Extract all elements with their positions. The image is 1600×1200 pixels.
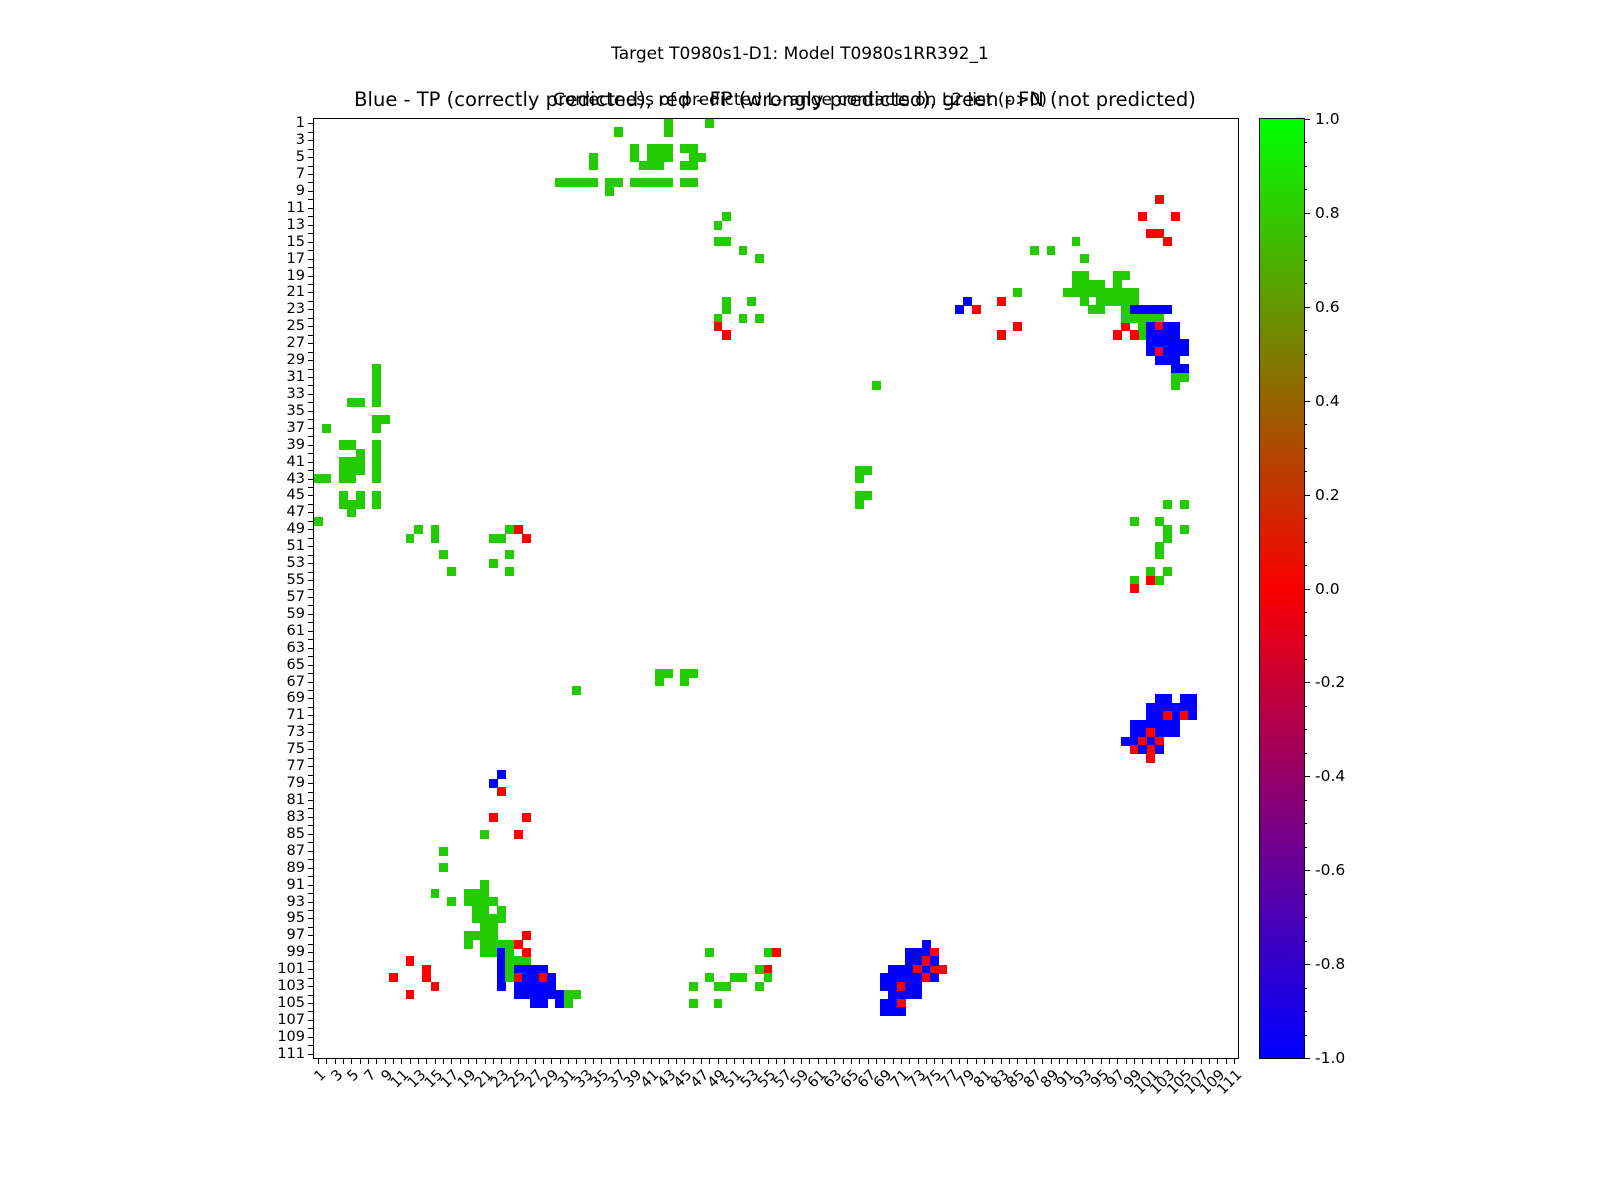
y-tick-mark xyxy=(308,775,314,776)
colorbar-minor-tick xyxy=(1304,941,1307,942)
colorbar-minor-tick xyxy=(1304,964,1307,965)
x-tick-mark xyxy=(568,1058,569,1064)
fn-cell xyxy=(1013,288,1022,297)
x-tick-mark xyxy=(1026,1058,1027,1064)
colorbar-minor-tick xyxy=(1304,354,1307,355)
y-tick-mark xyxy=(308,1054,314,1055)
x-tick-mark xyxy=(1001,1058,1002,1064)
fp-cell xyxy=(522,534,531,543)
fp-cell xyxy=(722,330,731,339)
tp-cell xyxy=(1171,728,1180,737)
x-tick-mark xyxy=(1226,1058,1227,1064)
fp-cell xyxy=(389,973,398,982)
y-tick-mark xyxy=(308,250,314,251)
x-tick-mark xyxy=(360,1058,361,1064)
fp-cell xyxy=(522,931,531,940)
tp-cell xyxy=(1180,347,1189,356)
y-tick-mark xyxy=(308,927,314,928)
colorbar-tick-label: 1.0 xyxy=(1315,110,1340,128)
fn-cell xyxy=(347,457,356,466)
y-tick-mark xyxy=(308,580,314,581)
colorbar-minor-tick xyxy=(1304,142,1307,143)
x-tick-mark xyxy=(693,1058,694,1064)
x-tick-mark xyxy=(318,1058,319,1064)
fn-cell xyxy=(664,119,673,128)
y-tick-label: 75 xyxy=(287,741,305,757)
fn-cell xyxy=(1030,246,1039,255)
colorbar-minor-tick xyxy=(1304,189,1307,190)
colorbar-minor-tick xyxy=(1304,729,1307,730)
y-tick-mark xyxy=(308,876,314,877)
tp-cell xyxy=(497,982,506,991)
x-tick-mark xyxy=(618,1058,619,1064)
x-tick-mark xyxy=(959,1058,960,1064)
x-tick-mark xyxy=(818,1058,819,1064)
y-tick-mark xyxy=(308,851,314,852)
fn-cell xyxy=(347,440,356,449)
y-tick-label: 81 xyxy=(287,792,305,808)
y-tick-mark xyxy=(308,639,314,640)
fn-cell xyxy=(630,178,639,187)
y-tick-mark xyxy=(308,783,314,784)
y-tick-mark xyxy=(308,233,314,234)
fn-cell xyxy=(714,221,723,230)
x-tick-mark xyxy=(651,1058,652,1064)
fn-cell xyxy=(764,973,773,982)
y-tick-mark xyxy=(308,885,314,886)
x-tick-mark xyxy=(560,1058,561,1064)
y-tick-label: 47 xyxy=(287,504,305,520)
x-tick-mark xyxy=(976,1058,977,1064)
colorbar-minor-tick xyxy=(1304,213,1307,214)
colorbar-minor-tick xyxy=(1304,1035,1307,1036)
y-tick-mark xyxy=(308,182,314,183)
y-tick-mark xyxy=(308,166,314,167)
x-tick-mark xyxy=(768,1058,769,1064)
y-tick-mark xyxy=(308,842,314,843)
y-tick-mark xyxy=(308,453,314,454)
x-tick-mark xyxy=(967,1058,968,1064)
x-tick-mark xyxy=(543,1058,544,1064)
colorbar-minor-tick xyxy=(1304,870,1307,871)
colorbar-minor-tick xyxy=(1304,1011,1307,1012)
x-tick-mark xyxy=(335,1058,336,1064)
fn-cell xyxy=(322,474,331,483)
tp-cell xyxy=(930,973,939,982)
fn-cell xyxy=(647,153,656,162)
y-tick-mark xyxy=(308,622,314,623)
y-tick-mark xyxy=(308,698,314,699)
x-tick-mark xyxy=(893,1058,894,1064)
y-tick-mark xyxy=(308,445,314,446)
colorbar-minor-tick xyxy=(1304,377,1307,378)
y-tick-mark xyxy=(308,326,314,327)
y-tick-label: 39 xyxy=(287,437,305,453)
fn-cell xyxy=(414,525,423,534)
y-tick-label: 35 xyxy=(287,403,305,419)
fn-cell xyxy=(314,474,323,483)
fn-cell xyxy=(755,254,764,263)
fn-cell xyxy=(1047,246,1056,255)
y-tick-mark xyxy=(308,208,314,209)
colorbar-minor-tick xyxy=(1304,847,1307,848)
y-tick-mark xyxy=(308,825,314,826)
fn-cell xyxy=(689,669,698,678)
fn-cell xyxy=(863,466,872,475)
colorbar-minor-tick xyxy=(1304,988,1307,989)
y-tick-label: 55 xyxy=(287,572,305,588)
fn-cell xyxy=(705,973,714,982)
fn-cell xyxy=(689,999,698,1008)
y-tick-mark xyxy=(308,665,314,666)
y-tick-mark xyxy=(308,893,314,894)
y-tick-mark xyxy=(308,521,314,522)
fn-cell xyxy=(747,297,756,306)
tp-cell xyxy=(913,982,922,991)
y-tick-mark xyxy=(308,411,314,412)
fp-cell xyxy=(497,787,506,796)
y-tick-mark xyxy=(308,1003,314,1004)
x-tick-mark xyxy=(1051,1058,1052,1064)
fn-cell xyxy=(1072,237,1081,246)
x-tick-mark xyxy=(801,1058,802,1064)
y-tick-mark xyxy=(308,242,314,243)
y-tick-label: 43 xyxy=(287,471,305,487)
tp-cell xyxy=(1155,745,1164,754)
y-tick-mark xyxy=(308,529,314,530)
x-tick-mark xyxy=(643,1058,644,1064)
colorbar-minor-tick xyxy=(1304,823,1307,824)
y-tick-label: 37 xyxy=(287,420,305,436)
y-tick-mark xyxy=(308,276,314,277)
tp-cell xyxy=(955,305,964,314)
fn-cell xyxy=(356,398,365,407)
y-tick-mark xyxy=(308,1045,314,1046)
colorbar-minor-tick xyxy=(1304,119,1307,120)
fn-cell xyxy=(372,440,381,449)
fp-cell xyxy=(522,813,531,822)
fn-cell xyxy=(664,127,673,136)
x-tick-mark xyxy=(743,1058,744,1064)
fn-cell xyxy=(372,474,381,483)
tp-cell xyxy=(555,990,564,999)
x-tick-mark xyxy=(684,1058,685,1064)
fp-cell xyxy=(1013,322,1022,331)
y-tick-mark xyxy=(308,834,314,835)
fn-cell xyxy=(372,424,381,433)
y-tick-mark xyxy=(308,707,314,708)
y-tick-label: 93 xyxy=(287,894,305,910)
fn-cell xyxy=(431,534,440,543)
fn-cell xyxy=(347,508,356,517)
y-tick-label: 105 xyxy=(277,995,305,1011)
y-tick-mark xyxy=(308,352,314,353)
y-tick-mark xyxy=(308,978,314,979)
fn-cell xyxy=(439,863,448,872)
y-tick-mark xyxy=(308,868,314,869)
fp-cell xyxy=(1171,212,1180,221)
y-tick-label: 87 xyxy=(287,843,305,859)
colorbar-minor-tick xyxy=(1304,307,1307,308)
y-tick-label: 49 xyxy=(287,521,305,537)
y-tick-mark xyxy=(308,157,314,158)
colorbar-minor-tick xyxy=(1304,283,1307,284)
fn-cell xyxy=(722,305,731,314)
y-tick-mark xyxy=(308,749,314,750)
fn-cell xyxy=(1155,576,1164,585)
fn-cell xyxy=(1096,305,1105,314)
y-tick-label: 95 xyxy=(287,910,305,926)
x-tick-mark xyxy=(734,1058,735,1064)
x-tick-mark xyxy=(826,1058,827,1064)
fp-cell xyxy=(514,830,523,839)
y-tick-label: 9 xyxy=(296,183,305,199)
y-tick-mark xyxy=(308,385,314,386)
y-tick-label: 97 xyxy=(287,927,305,943)
axes-title-legend: Blue - TP (correctly predicted), red - F… xyxy=(313,88,1237,111)
y-tick-mark xyxy=(308,715,314,716)
x-tick-mark xyxy=(1201,1058,1202,1064)
x-tick-mark xyxy=(876,1058,877,1064)
fn-cell xyxy=(872,381,881,390)
x-tick-mark xyxy=(1034,1058,1035,1064)
y-tick-mark xyxy=(308,123,314,124)
x-tick-mark xyxy=(1042,1058,1043,1064)
y-tick-mark xyxy=(308,436,314,437)
tp-cell xyxy=(497,770,506,779)
fn-cell xyxy=(722,237,731,246)
y-tick-label: 21 xyxy=(287,284,305,300)
x-tick-mark xyxy=(718,1058,719,1064)
fp-cell xyxy=(422,965,431,974)
x-tick-mark xyxy=(992,1058,993,1064)
x-tick-mark xyxy=(1101,1058,1102,1064)
fn-cell xyxy=(739,314,748,323)
fn-cell xyxy=(1080,254,1089,263)
fn-cell xyxy=(314,517,323,526)
y-tick-mark xyxy=(308,1028,314,1029)
fp-cell xyxy=(938,965,947,974)
colorbar-tick-label: 0.2 xyxy=(1315,486,1340,504)
x-tick-mark xyxy=(668,1058,669,1064)
x-tick-mark xyxy=(1142,1058,1143,1064)
y-tick-label: 69 xyxy=(287,690,305,706)
x-tick-mark xyxy=(410,1058,411,1064)
y-tick-mark xyxy=(308,267,314,268)
x-tick-mark xyxy=(435,1058,436,1064)
colorbar-minor-tick xyxy=(1304,753,1307,754)
y-tick-mark xyxy=(308,487,314,488)
y-tick-label: 17 xyxy=(287,251,305,267)
colorbar-minor-tick xyxy=(1304,401,1307,402)
fn-cell xyxy=(614,178,623,187)
x-tick-mark xyxy=(1117,1058,1118,1064)
x-tick-mark xyxy=(1217,1058,1218,1064)
y-tick-mark xyxy=(308,766,314,767)
x-tick-mark xyxy=(601,1058,602,1064)
colorbar-minor-tick xyxy=(1304,495,1307,496)
x-tick-mark xyxy=(776,1058,777,1064)
fn-cell xyxy=(722,982,731,991)
fp-cell xyxy=(1113,330,1122,339)
colorbar-minor-tick xyxy=(1304,260,1307,261)
fp-cell xyxy=(772,948,781,957)
y-tick-mark xyxy=(308,732,314,733)
fn-cell xyxy=(1171,381,1180,390)
x-tick-mark xyxy=(1234,1058,1235,1064)
y-tick-mark xyxy=(308,910,314,911)
fn-cell xyxy=(755,982,764,991)
y-tick-mark xyxy=(308,690,314,691)
colorbar-minor-tick xyxy=(1304,800,1307,801)
tp-cell xyxy=(1171,364,1180,373)
y-tick-mark xyxy=(308,470,314,471)
fn-cell xyxy=(505,567,514,576)
x-tick-mark xyxy=(418,1058,419,1064)
y-tick-mark xyxy=(308,546,314,547)
x-tick-mark xyxy=(351,1058,352,1064)
y-tick-label: 13 xyxy=(287,217,305,233)
fn-cell xyxy=(447,897,456,906)
y-tick-mark xyxy=(308,902,314,903)
y-tick-mark xyxy=(308,859,314,860)
colorbar-tick-label: -0.8 xyxy=(1315,955,1345,973)
x-tick-mark xyxy=(793,1058,794,1064)
y-tick-mark xyxy=(308,792,314,793)
fn-cell xyxy=(855,500,864,509)
y-tick-label: 61 xyxy=(287,623,305,639)
x-tick-mark xyxy=(918,1058,919,1064)
fn-cell xyxy=(1180,373,1189,382)
x-tick-mark xyxy=(485,1058,486,1064)
colorbar-minor-tick xyxy=(1304,682,1307,683)
y-tick-mark xyxy=(308,918,314,919)
colorbar-minor-tick xyxy=(1304,166,1307,167)
y-tick-mark xyxy=(308,394,314,395)
y-tick-mark xyxy=(308,673,314,674)
x-tick-mark xyxy=(834,1058,835,1064)
y-tick-mark xyxy=(308,724,314,725)
y-tick-label: 51 xyxy=(287,538,305,554)
fp-cell xyxy=(1155,195,1164,204)
x-tick-mark xyxy=(385,1058,386,1064)
y-tick-mark xyxy=(308,986,314,987)
fn-cell xyxy=(1155,550,1164,559)
y-tick-label: 25 xyxy=(287,318,305,334)
x-tick-mark xyxy=(1067,1058,1068,1064)
fp-cell xyxy=(997,330,1006,339)
x-tick-mark xyxy=(884,1058,885,1064)
y-tick-mark xyxy=(308,648,314,649)
colorbar-minor-tick xyxy=(1304,776,1307,777)
x-tick-mark xyxy=(576,1058,577,1064)
fn-cell xyxy=(464,940,473,949)
y-tick-label: 99 xyxy=(287,944,305,960)
y-tick-mark xyxy=(308,800,314,801)
y-tick-mark xyxy=(308,259,314,260)
colorbar-minor-tick xyxy=(1304,471,1307,472)
x-tick-mark xyxy=(443,1058,444,1064)
fn-cell xyxy=(1121,271,1130,280)
tp-cell xyxy=(539,999,548,1008)
y-tick-label: 107 xyxy=(277,1012,305,1028)
x-tick-mark xyxy=(451,1058,452,1064)
x-tick-mark xyxy=(751,1058,752,1064)
fn-cell xyxy=(1130,517,1139,526)
colorbar-minor-tick xyxy=(1304,448,1307,449)
x-tick-mark xyxy=(393,1058,394,1064)
y-tick-mark xyxy=(308,935,314,936)
y-tick-mark xyxy=(308,597,314,598)
x-tick-mark xyxy=(926,1058,927,1064)
fn-cell xyxy=(347,474,356,483)
x-tick-mark xyxy=(1167,1058,1168,1064)
y-tick-mark xyxy=(308,216,314,217)
colorbar-minor-tick xyxy=(1304,589,1307,590)
x-tick-mark xyxy=(901,1058,902,1064)
y-tick-label: 15 xyxy=(287,234,305,250)
y-tick-label: 101 xyxy=(277,961,305,977)
y-tick-mark xyxy=(308,538,314,539)
x-tick-mark xyxy=(709,1058,710,1064)
colorbar-tick-label: 0.4 xyxy=(1315,392,1340,410)
fn-cell xyxy=(381,415,390,424)
tp-cell xyxy=(1188,711,1197,720)
fn-cell xyxy=(664,669,673,678)
y-tick-mark xyxy=(308,605,314,606)
x-tick-mark xyxy=(784,1058,785,1064)
colorbar-minor-tick xyxy=(1304,635,1307,636)
fn-cell xyxy=(1163,534,1172,543)
y-tick-label: 23 xyxy=(287,301,305,317)
x-tick-mark xyxy=(626,1058,627,1064)
y-tick-label: 31 xyxy=(287,369,305,385)
x-tick-mark xyxy=(1076,1058,1077,1064)
y-tick-mark xyxy=(308,132,314,133)
y-tick-label: 45 xyxy=(287,487,305,503)
y-tick-mark xyxy=(308,199,314,200)
fn-cell xyxy=(372,390,381,399)
colorbar-minor-tick xyxy=(1304,659,1307,660)
fp-cell xyxy=(431,982,440,991)
fn-cell xyxy=(664,153,673,162)
fn-cell xyxy=(664,178,673,187)
x-tick-mark xyxy=(759,1058,760,1064)
colorbar-minor-tick xyxy=(1304,236,1307,237)
x-tick-mark xyxy=(951,1058,952,1064)
y-tick-mark xyxy=(308,969,314,970)
fn-cell xyxy=(439,847,448,856)
fn-cell xyxy=(705,119,714,128)
fn-cell xyxy=(564,999,573,1008)
x-tick-mark xyxy=(1192,1058,1193,1064)
fn-cell xyxy=(714,999,723,1008)
suptitle-line-1: Target T0980s1-D1: Model T0980s1RR392_1 xyxy=(0,43,1600,66)
y-tick-mark xyxy=(308,741,314,742)
y-tick-mark xyxy=(308,1037,314,1038)
x-tick-mark xyxy=(701,1058,702,1064)
fn-cell xyxy=(863,491,872,500)
fp-cell xyxy=(1138,212,1147,221)
x-tick-mark xyxy=(468,1058,469,1064)
fn-cell xyxy=(722,212,731,221)
colorbar-tick-label: -1.0 xyxy=(1315,1049,1345,1067)
y-tick-mark xyxy=(308,817,314,818)
y-tick-mark xyxy=(308,952,314,953)
y-tick-label: 85 xyxy=(287,826,305,842)
x-tick-mark xyxy=(809,1058,810,1064)
fn-cell xyxy=(655,161,664,170)
